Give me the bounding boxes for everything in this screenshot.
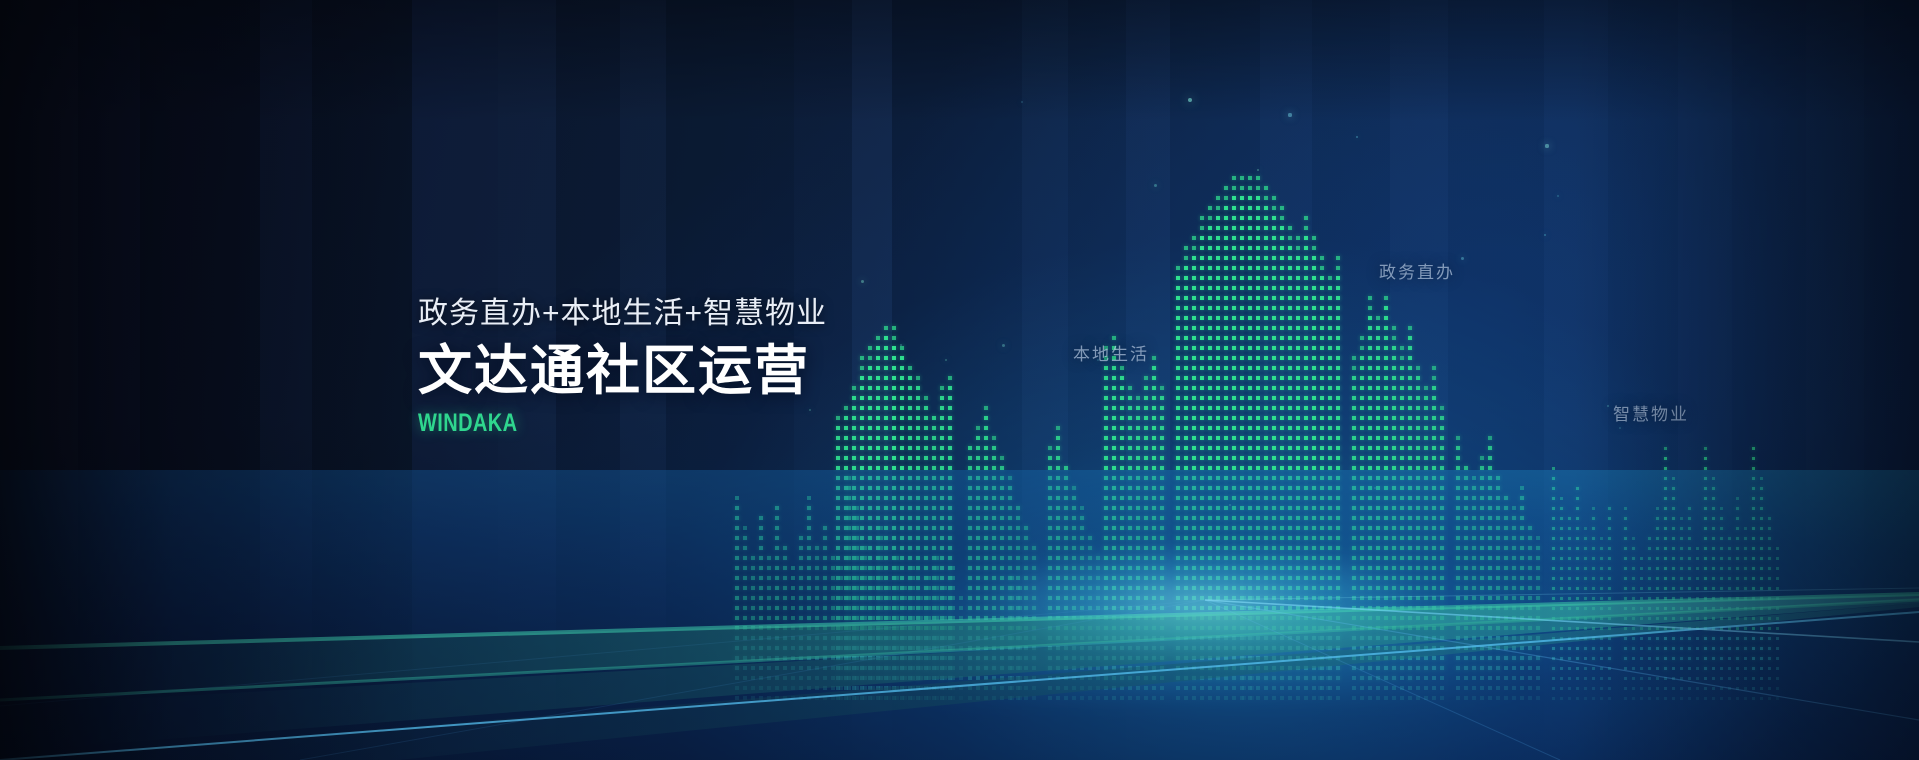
city-dot [1376,456,1380,460]
city-dot [932,426,936,430]
city-dot [1392,406,1396,410]
city-dot [836,446,840,450]
city-dot [868,456,872,460]
city-dot [1280,396,1284,400]
city-dot [1272,376,1276,380]
city-dot [1256,286,1260,290]
city-dot [1216,276,1220,280]
city-dot [1288,226,1292,230]
city-dot [1488,446,1492,450]
city-dot [1368,406,1372,410]
city-dot [1208,446,1212,450]
city-dot [948,386,952,390]
city-dot [836,456,840,460]
city-dot [1152,416,1156,420]
city-dot [916,376,920,380]
city-dot [1104,436,1108,440]
city-dot [1136,456,1140,460]
city-dot [1056,426,1060,430]
city-dot [852,396,856,400]
city-dot [924,416,928,420]
city-dot [924,446,928,450]
city-dot [1176,386,1180,390]
city-dot [1224,356,1228,360]
city-dot [1200,346,1204,350]
city-dot [1440,406,1444,410]
city-dot [1360,396,1364,400]
city-dot [1328,296,1332,300]
city-dot [1120,436,1124,440]
city-dot [1296,306,1300,310]
city-dot [1288,266,1292,270]
city-dot [1368,356,1372,360]
city-dot [1256,326,1260,330]
city-dot [1360,456,1364,460]
city-dot [1280,326,1284,330]
city-dot [1152,376,1156,380]
city-dot [1232,446,1236,450]
city-dot [1208,386,1212,390]
city-dot [1104,426,1108,430]
city-dot [1256,426,1260,430]
city-dot [1232,256,1236,260]
city-dot [1296,376,1300,380]
city-dot [1368,296,1372,300]
city-dot [1152,366,1156,370]
city-dot [1272,436,1276,440]
city-dot [1312,376,1316,380]
city-dot [1224,426,1228,430]
city-dot [1248,436,1252,440]
city-dot [900,366,904,370]
city-dot [1152,446,1156,450]
city-dot [1248,316,1252,320]
city-dot [1200,416,1204,420]
city-dot [1264,376,1268,380]
city-dot [1288,306,1292,310]
city-dot [1336,266,1340,270]
city-dot [836,436,840,440]
city-dot [992,436,996,440]
city-dot [1320,426,1324,430]
city-dot [1328,396,1332,400]
city-dot [948,376,952,380]
city-dot [1296,396,1300,400]
city-dot [1360,336,1364,340]
city-dot [1320,326,1324,330]
city-dot [1432,426,1436,430]
city-dot [1216,296,1220,300]
city-dot [1224,446,1228,450]
city-dot [1144,426,1148,430]
city-dot [1176,426,1180,430]
city-dot [868,356,872,360]
city-dot [1128,446,1132,450]
city-dot [1304,296,1308,300]
city-dot [908,426,912,430]
city-dot [884,326,888,330]
city-dot [1184,446,1188,450]
city-dot [1208,306,1212,310]
city-dot [984,406,988,410]
city-dot [1296,286,1300,290]
city-dot [1192,356,1196,360]
city-dot [1104,456,1108,460]
city-dot [1224,376,1228,380]
city-dot [1112,396,1116,400]
city-dot [1392,366,1396,370]
city-dot [844,446,848,450]
city-dot [1216,246,1220,250]
city-dot [1376,446,1380,450]
city-dot [1368,366,1372,370]
city-dot [1320,296,1324,300]
city-dot [1440,456,1444,460]
city-dot [1296,346,1300,350]
city-dot [1216,386,1220,390]
city-dot [1256,266,1260,270]
city-dot [1288,436,1292,440]
city-dot [1224,306,1228,310]
city-dot [1112,446,1116,450]
city-dot [1200,286,1204,290]
city-dot [1328,456,1332,460]
city-dot [1312,306,1316,310]
city-dot [876,336,880,340]
city-dot [1184,366,1188,370]
city-dot [1272,306,1276,310]
city-dot [1256,336,1260,340]
city-dot [984,446,988,450]
city-dot [1352,436,1356,440]
city-dot [1152,356,1156,360]
city-dot [1240,226,1244,230]
city-dot [992,456,996,460]
city-dot [900,446,904,450]
city-dot [1232,236,1236,240]
city-dot [1296,266,1300,270]
city-dot [1184,396,1188,400]
city-dot [1288,336,1292,340]
city-dot [1208,266,1212,270]
city-dot [1384,326,1388,330]
city-dot [924,396,928,400]
city-dot [1320,366,1324,370]
city-dot [1352,456,1356,460]
city-dot [948,456,952,460]
city-dot [1232,426,1236,430]
city-dot [1224,346,1228,350]
city-dot [1160,426,1164,430]
city-dot [1336,286,1340,290]
city-dot [876,366,880,370]
city-dot [1296,416,1300,420]
city-dot [1272,336,1276,340]
city-dot [1232,216,1236,220]
city-dot [1408,446,1412,450]
city-dot [1408,376,1412,380]
city-dot [1360,446,1364,450]
city-dot [884,426,888,430]
city-dot [852,386,856,390]
city-dot [1128,416,1132,420]
city-dot [868,386,872,390]
city-dot [1272,196,1276,200]
city-dot [1280,366,1284,370]
city-dot [1256,196,1260,200]
city-dot [1248,456,1252,460]
city-dot [1224,246,1228,250]
city-dot [1320,336,1324,340]
city-dot [908,396,912,400]
city-dot [1304,336,1308,340]
city-dot [1288,446,1292,450]
city-dot [1352,446,1356,450]
city-dot [1208,356,1212,360]
city-dot [868,426,872,430]
city-dot [1264,396,1268,400]
city-dot [1304,376,1308,380]
city-dot [1304,416,1308,420]
city-dot [1216,396,1220,400]
city-dot [1224,316,1228,320]
city-dot [1392,426,1396,430]
city-dot [1240,216,1244,220]
city-dot [1416,376,1420,380]
city-dot [1360,376,1364,380]
city-dot [1240,246,1244,250]
city-dot [1320,446,1324,450]
city-dot [1224,206,1228,210]
city-dot [1208,236,1212,240]
city-dot [1312,396,1316,400]
city-dot [892,396,896,400]
city-dot [1408,406,1412,410]
city-dot [1320,436,1324,440]
city-dot [1224,196,1228,200]
city-dot [948,436,952,440]
city-dot [844,456,848,460]
city-dot [1152,456,1156,460]
city-dot [1368,376,1372,380]
city-dot [1104,376,1108,380]
city-dot [884,336,888,340]
city-dot [1256,436,1260,440]
city-dot [940,456,944,460]
city-dot [1320,396,1324,400]
city-dot [1160,436,1164,440]
city-dot [1128,426,1132,430]
city-dot [1264,436,1268,440]
city-dot [1128,396,1132,400]
city-dot [1200,376,1204,380]
city-dot [1192,386,1196,390]
floating-label-3: 智慧物业 [1613,400,1689,425]
city-dot [1248,326,1252,330]
city-dot [1200,276,1204,280]
city-dot [1256,306,1260,310]
city-dot [1248,206,1252,210]
city-dot [1128,406,1132,410]
city-dot [1304,226,1308,230]
city-dot [1240,386,1244,390]
city-dot [1376,316,1380,320]
city-dot [1208,366,1212,370]
city-dot [976,456,980,460]
city-dot [1280,316,1284,320]
city-dot [1216,306,1220,310]
city-dot [1256,246,1260,250]
city-dot [1224,416,1228,420]
city-dot [1440,436,1444,440]
brand-wordmark: WINDAKA [418,409,745,438]
city-dot [1456,456,1460,460]
city-dot [908,446,912,450]
city-dot [1312,456,1316,460]
city-dot [1224,256,1228,260]
city-dot [1184,326,1188,330]
city-dot [1240,326,1244,330]
city-dot [916,426,920,430]
city-dot [884,346,888,350]
floating-label-1: 本地生活 [1073,340,1149,365]
city-dot [1256,186,1260,190]
city-dot [916,436,920,440]
city-dot [1400,406,1404,410]
city-dot [1704,457,1707,460]
city-dot [1376,376,1380,380]
city-dot [892,366,896,370]
city-dot [1112,376,1116,380]
city-dot [1176,306,1180,310]
city-dot [1328,326,1332,330]
city-dot [1416,406,1420,410]
city-dot [1336,256,1340,260]
city-dot [1232,296,1236,300]
city-dot [948,396,952,400]
city-dot [1400,436,1404,440]
city-dot [876,426,880,430]
city-dot [1384,386,1388,390]
city-dot [1184,336,1188,340]
city-dot [1224,226,1228,230]
city-dot [1264,296,1268,300]
city-dot [1280,436,1284,440]
city-dot [1376,406,1380,410]
city-dot [884,446,888,450]
city-dot [1280,336,1284,340]
city-dot [1392,446,1396,450]
city-dot [1056,456,1060,460]
city-dot [1216,446,1220,450]
city-dot [1240,196,1244,200]
city-dot [1312,296,1316,300]
city-dot [1400,416,1404,420]
city-dot [1384,346,1388,350]
city-dot [1336,416,1340,420]
city-dot [1328,346,1332,350]
city-dot [1224,186,1228,190]
city-dot [1368,336,1372,340]
city-dot [1184,266,1188,270]
city-dot [860,416,864,420]
city-dot [1400,446,1404,450]
city-dot [1328,306,1332,310]
city-dot [860,406,864,410]
city-dot [1160,456,1164,460]
city-dot [1312,236,1316,240]
city-dot [984,416,988,420]
city-dot [1320,256,1324,260]
city-dot [1192,446,1196,450]
city-dot [1248,366,1252,370]
city-dot [1144,436,1148,440]
city-dot [908,386,912,390]
city-dot [1368,426,1372,430]
city-dot [1336,376,1340,380]
city-dot [1200,266,1204,270]
city-dot [1248,416,1252,420]
city-dot [1160,406,1164,410]
city-dot [1160,396,1164,400]
city-dot [1200,306,1204,310]
city-dot [1272,446,1276,450]
city-dot [1304,256,1308,260]
city-dot [1392,436,1396,440]
city-dot [1144,456,1148,460]
city-dot [940,406,944,410]
city-dot [1248,446,1252,450]
city-dot [1184,386,1188,390]
city-dot [1240,276,1244,280]
city-dot [900,346,904,350]
city-dot [1312,266,1316,270]
city-dot [1184,296,1188,300]
city-dot [1376,346,1380,350]
city-dot [1320,406,1324,410]
city-dot [1184,416,1188,420]
city-dot [1288,406,1292,410]
city-dot [1368,386,1372,390]
city-dot [1376,336,1380,340]
city-dot [1328,386,1332,390]
city-dot [1272,276,1276,280]
city-dot [1192,416,1196,420]
city-dot [1192,276,1196,280]
city-dot [1312,326,1316,330]
city-dot [1304,386,1308,390]
city-dot [1328,316,1332,320]
city-dot [1240,316,1244,320]
city-dot [876,346,880,350]
city-dot [1192,306,1196,310]
city-dot [1400,426,1404,430]
city-dot [1288,256,1292,260]
city-dot [1208,226,1212,230]
city-dot [908,406,912,410]
city-dot [1192,296,1196,300]
city-dot [968,456,972,460]
city-dot [1240,206,1244,210]
city-dot [1320,376,1324,380]
city-dot [1264,406,1268,410]
city-dot [1192,336,1196,340]
city-dot [1432,416,1436,420]
city-dot [1280,246,1284,250]
city-dot [1312,386,1316,390]
city-dot [1112,436,1116,440]
city-dot [1312,446,1316,450]
